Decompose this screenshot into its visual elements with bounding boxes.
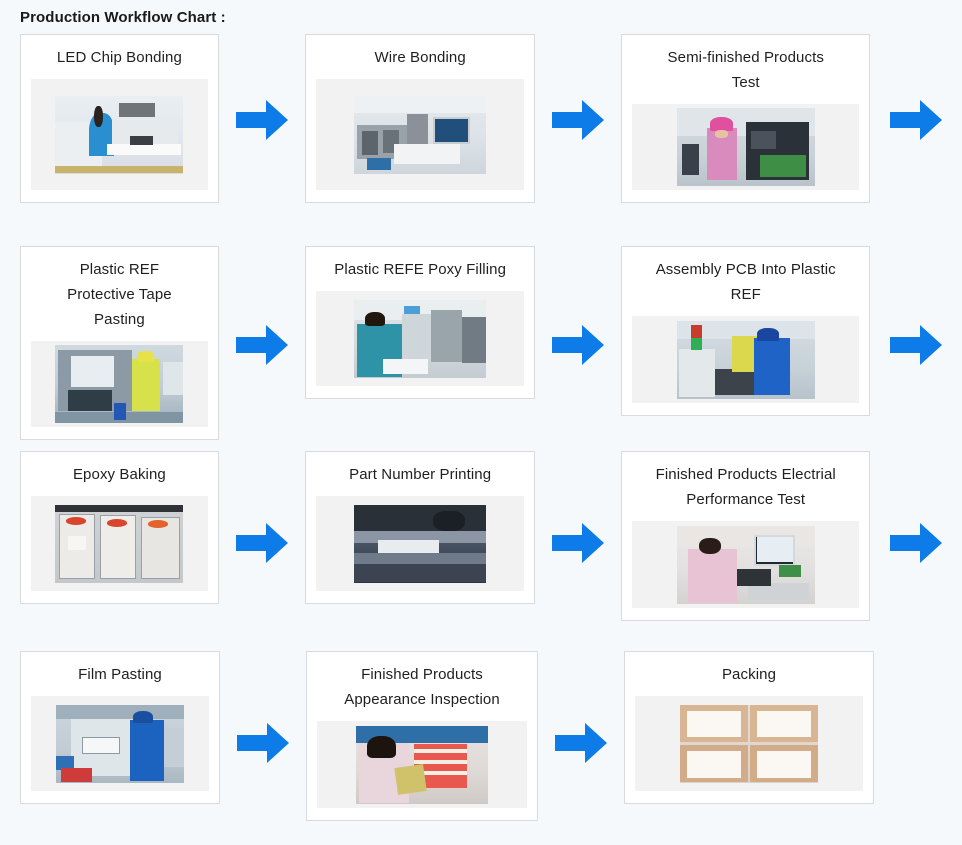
workflow-chart: LED Chip Bonding Wire Bonding — [0, 28, 962, 845]
step-label: Packing — [635, 662, 863, 687]
step-card-plastic-refe-poxy-filling[interactable]: Plastic REFE Poxy Filling — [305, 246, 536, 399]
step-label: Semi-finished Products Test — [632, 45, 859, 95]
arrow-connector — [535, 34, 621, 246]
led-chip-bonding-photo — [55, 96, 183, 174]
step-photo-band — [31, 696, 209, 791]
part-number-printing-photo — [354, 505, 486, 583]
arrow-right-icon — [552, 98, 604, 142]
arrow-right-icon — [237, 721, 289, 765]
arrow-connector-row-end — [870, 451, 962, 651]
step-photo-band — [31, 496, 208, 591]
arrow-right-icon — [555, 721, 607, 765]
step-photo-band — [31, 341, 208, 427]
step-card-packing[interactable]: Packing — [624, 651, 874, 804]
step-photo-band — [635, 696, 863, 791]
wire-bonding-photo — [354, 96, 486, 174]
step-photo-band — [317, 721, 527, 808]
arrow-connector — [535, 246, 621, 451]
step-card-finished-products-electrial-performance-test[interactable]: Finished Products Electrial Performance … — [621, 451, 870, 621]
arrow-right-icon — [890, 521, 942, 565]
step-card-led-chip-bonding[interactable]: LED Chip Bonding — [20, 34, 219, 203]
step-photo-band — [632, 521, 859, 608]
step-card-epoxy-baking[interactable]: Epoxy Baking — [20, 451, 219, 604]
arrow-right-icon — [890, 98, 942, 142]
arrow-connector — [535, 451, 621, 651]
arrow-connector-row-end — [870, 246, 962, 451]
arrow-right-icon — [236, 98, 288, 142]
step-label: Part Number Printing — [316, 462, 525, 487]
step-label: Film Pasting — [31, 662, 209, 687]
plastic-ref-protective-tape-pasting-photo — [55, 345, 183, 423]
arrow-connector-placeholder — [874, 651, 960, 845]
step-label: Assembly PCB Into Plastic REF — [632, 257, 859, 307]
workflow-row-2: Plastic REF Protective Tape Pasting Plas… — [0, 246, 962, 451]
step-photo-band — [31, 79, 208, 190]
workflow-row-1: LED Chip Bonding Wire Bonding — [0, 34, 962, 246]
step-label: Plastic REF Protective Tape Pasting — [31, 257, 208, 332]
page-title: Production Workflow Chart : — [0, 0, 962, 28]
step-card-film-pasting[interactable]: Film Pasting — [20, 651, 220, 804]
arrow-right-icon — [552, 521, 604, 565]
step-label: LED Chip Bonding — [31, 45, 208, 70]
plastic-refe-poxy-filling-photo — [354, 300, 486, 378]
step-card-finished-products-appearance-inspection[interactable]: Finished Products Appearance Inspection — [306, 651, 538, 821]
step-label: Epoxy Baking — [31, 462, 208, 487]
step-card-wire-bonding[interactable]: Wire Bonding — [305, 34, 536, 203]
step-photo-band — [316, 291, 525, 386]
step-photo-band — [632, 104, 859, 190]
assembly-pcb-into-plastic-ref-photo — [677, 321, 815, 399]
finished-products-appearance-inspection-photo — [356, 726, 488, 804]
semi-finished-products-test-photo — [677, 108, 815, 186]
step-label: Wire Bonding — [316, 45, 525, 70]
arrow-right-icon — [552, 323, 604, 367]
workflow-row-3: Epoxy Baking Part Number Printing — [0, 451, 962, 651]
finished-products-electrial-performance-test-photo — [677, 526, 815, 604]
arrow-right-icon — [236, 521, 288, 565]
step-card-part-number-printing[interactable]: Part Number Printing — [305, 451, 536, 604]
arrow-connector — [220, 651, 306, 845]
step-photo-band — [316, 79, 525, 190]
workflow-row-4: Film Pasting Finished Products Appearanc… — [0, 651, 962, 845]
step-photo-band — [632, 316, 859, 403]
step-card-plastic-ref-protective-tape-pasting[interactable]: Plastic REF Protective Tape Pasting — [20, 246, 219, 440]
packing-photo — [680, 705, 818, 783]
film-pasting-photo — [56, 705, 184, 783]
arrow-connector-row-end — [870, 34, 962, 246]
arrow-right-icon — [236, 323, 288, 367]
arrow-connector — [219, 451, 305, 651]
arrow-connector — [538, 651, 624, 845]
arrow-connector — [219, 34, 305, 246]
step-card-assembly-pcb-into-plastic-ref[interactable]: Assembly PCB Into Plastic REF — [621, 246, 870, 416]
step-card-semi-finished-products-test[interactable]: Semi-finished Products Test — [621, 34, 870, 203]
epoxy-baking-photo — [55, 505, 183, 583]
step-label: Finished Products Appearance Inspection — [317, 662, 527, 712]
step-label: Plastic REFE Poxy Filling — [316, 257, 525, 282]
arrow-connector — [219, 246, 305, 451]
arrow-right-icon — [890, 323, 942, 367]
step-label: Finished Products Electrial Performance … — [632, 462, 859, 512]
step-photo-band — [316, 496, 525, 591]
